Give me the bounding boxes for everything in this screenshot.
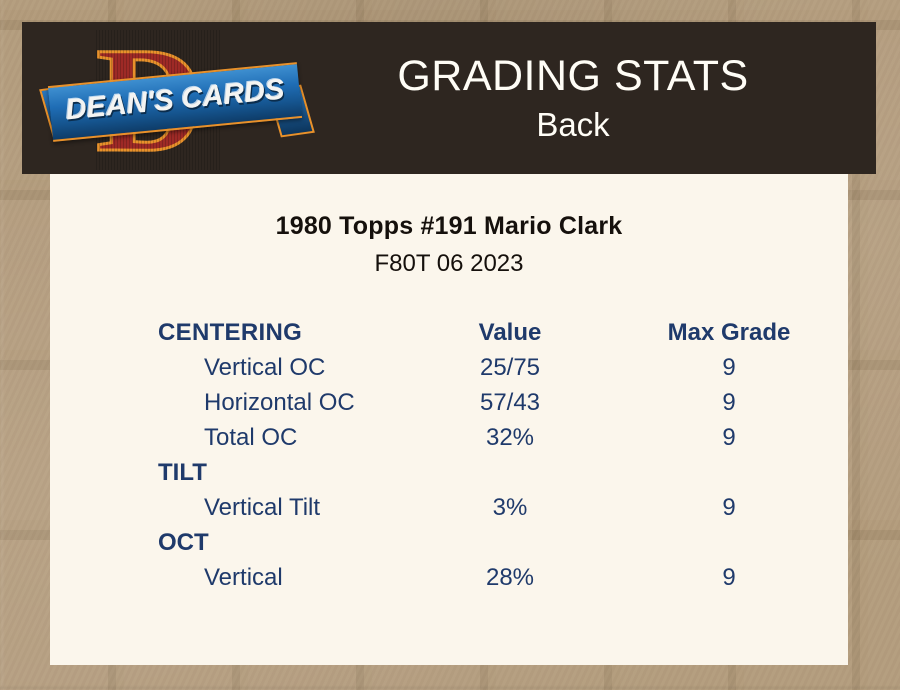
stat-value — [410, 455, 610, 490]
grading-stats-table: CENTERINGValueMax GradeVertical OC25/759… — [50, 315, 848, 595]
page-subtitle: Back — [300, 104, 846, 146]
stat-max-grade — [610, 455, 848, 490]
page-title: GRADING STATS — [300, 50, 846, 102]
table-row: Horizontal OC57/439 — [50, 385, 848, 420]
stat-value: 28% — [410, 560, 610, 595]
stat-value — [410, 525, 610, 560]
stat-max-grade — [610, 525, 848, 560]
table-row: Total OC32%9 — [50, 420, 848, 455]
content-panel: 1980 Topps #191 Mario Clark F80T 06 2023… — [50, 174, 848, 665]
stat-label: Horizontal OC — [50, 385, 410, 420]
table-row: Vertical Tilt3%9 — [50, 490, 848, 525]
card-title: 1980 Topps #191 Mario Clark — [50, 212, 848, 241]
section-header-label: OCT — [50, 525, 410, 560]
column-header-max-grade: Max Grade — [610, 315, 848, 350]
stat-max-grade: 9 — [610, 560, 848, 595]
stat-max-grade: 9 — [610, 490, 848, 525]
stat-max-grade: 9 — [610, 350, 848, 385]
stat-value: 32% — [410, 420, 610, 455]
section-header-label: CENTERING — [50, 315, 410, 350]
stat-label: Vertical — [50, 560, 410, 595]
stat-value: 25/75 — [410, 350, 610, 385]
table-section-row: CENTERINGValueMax Grade — [50, 315, 848, 350]
stat-max-grade: 9 — [610, 420, 848, 455]
table-section-row: TILT — [50, 455, 848, 490]
grading-stats-body: CENTERINGValueMax GradeVertical OC25/759… — [50, 315, 848, 595]
stat-label: Total OC — [50, 420, 410, 455]
stat-label: Vertical Tilt — [50, 490, 410, 525]
stat-max-grade: 9 — [610, 385, 848, 420]
header-bar: D DEAN'S CARDS GRADING STATS Back — [22, 22, 876, 174]
card-identifier: F80T 06 2023 — [50, 250, 848, 278]
stat-label: Vertical OC — [50, 350, 410, 385]
deans-cards-logo[interactable]: D DEAN'S CARDS — [50, 28, 300, 168]
table-section-row: OCT — [50, 525, 848, 560]
table-row: Vertical OC25/759 — [50, 350, 848, 385]
stat-value: 3% — [410, 490, 610, 525]
header-title-group: GRADING STATS Back — [300, 50, 876, 146]
section-header-label: TILT — [50, 455, 410, 490]
column-header-value: Value — [410, 315, 610, 350]
table-row: Vertical28%9 — [50, 560, 848, 595]
stat-value: 57/43 — [410, 385, 610, 420]
